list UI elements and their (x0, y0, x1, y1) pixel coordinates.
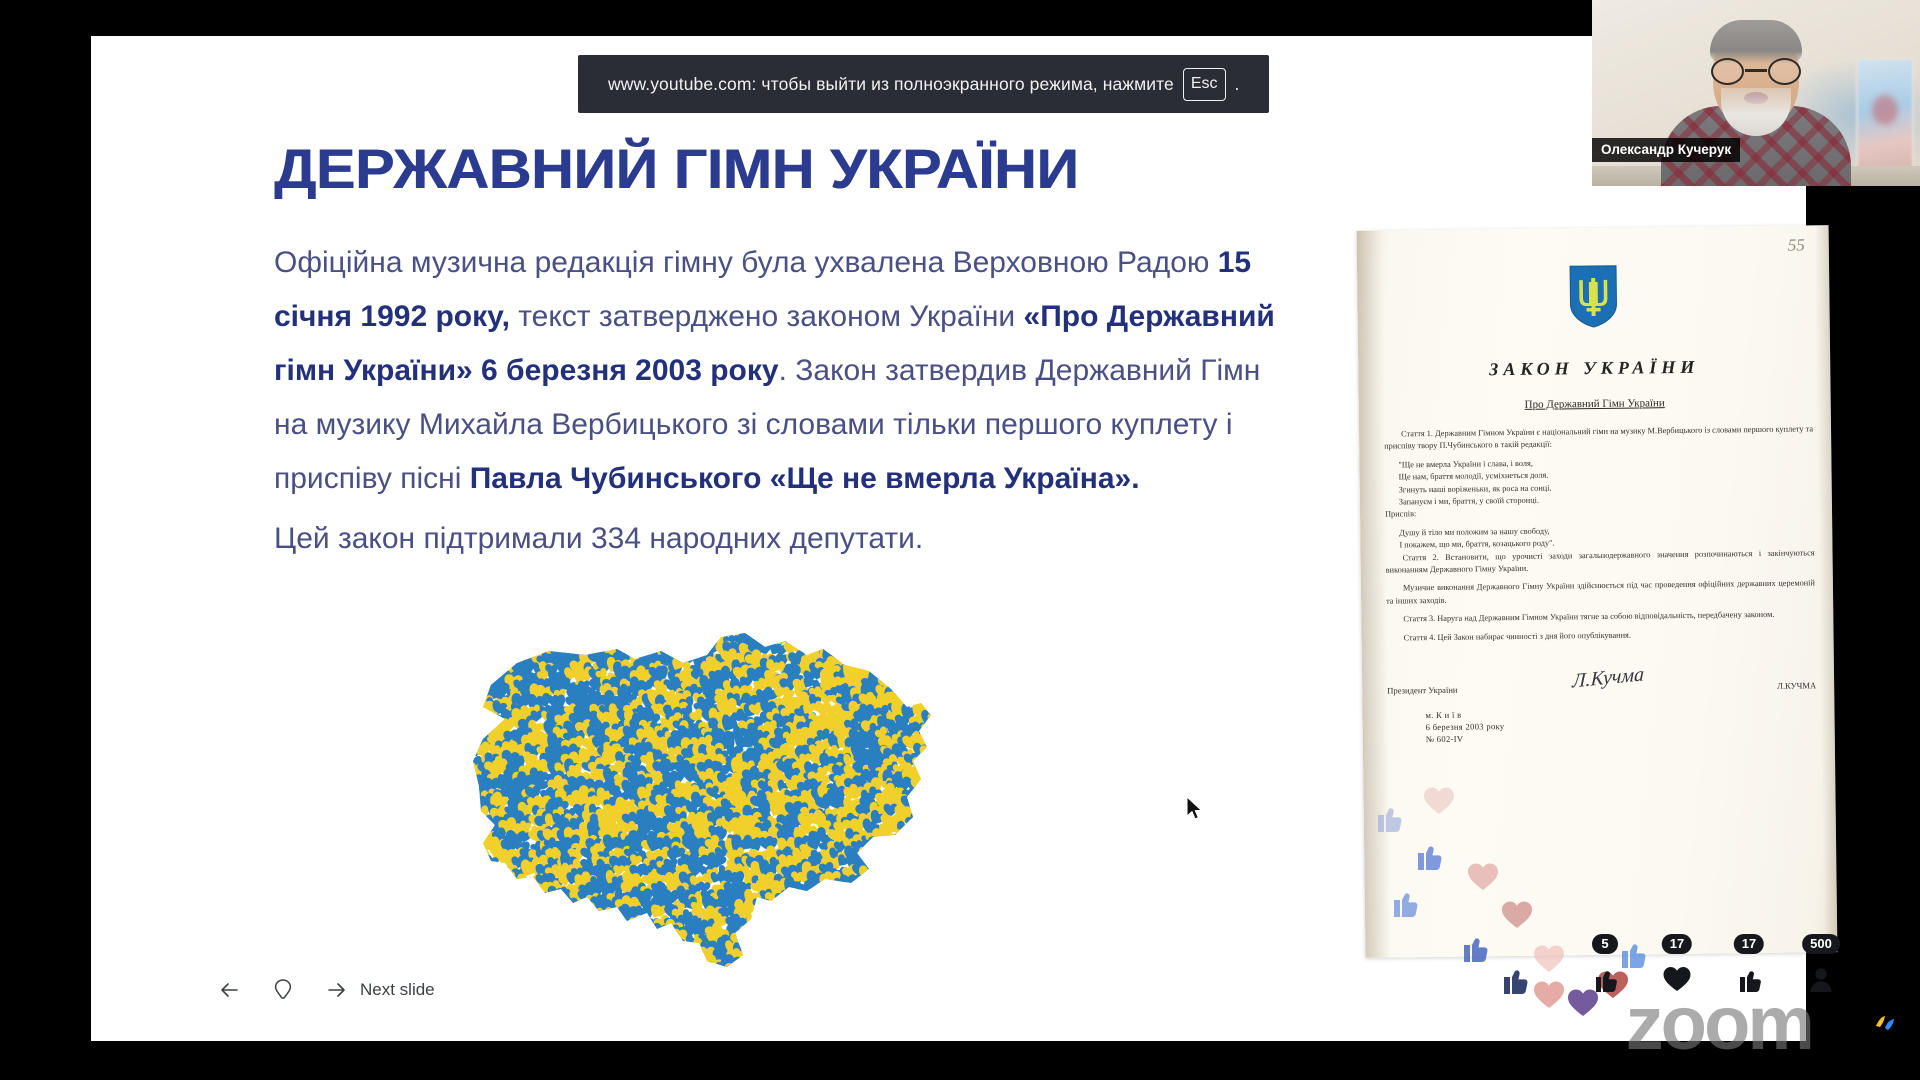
next-slide-label: Next slide (360, 980, 435, 1000)
arrow-right-icon (326, 979, 348, 1001)
page-title: ДЕРЖАВНИЙ ГІМН УКРАЇНИ (274, 136, 1078, 201)
laser-pointer-icon (272, 978, 294, 1002)
slide-final-line: Цей закон підтримали 334 народних депута… (274, 512, 1284, 566)
previous-slide-button[interactable] (204, 968, 254, 1012)
text-segment-5: Павла Чубинського «Ще не вмерла Україна»… (470, 462, 1140, 495)
document-article-1: Стаття 1. Державним Гімном України є нац… (1384, 423, 1813, 453)
participant-glasses (1711, 58, 1801, 86)
badge-count: 500 (1802, 934, 1840, 954)
document-page-number: 55 (1788, 235, 1805, 255)
document-article-2b: Музичне виконання Державного Гімну Украї… (1386, 578, 1815, 608)
participant-video-tile[interactable]: Олександр Кучерук (1592, 0, 1920, 186)
participant-count-badge[interactable]: 500 (1800, 934, 1842, 994)
notification-message: www.youtube.com: чтобы выйти из полноэкр… (608, 74, 1174, 95)
document-article-2a: Стаття 2. Встановити, що урочисті заходи… (1386, 547, 1815, 577)
thumbs-up-icon (1734, 964, 1764, 994)
zoom-watermark: zoom (1626, 986, 1812, 1062)
law-document-photo: 55 ЗАКОН УКРАЇНИ Про Державний Гімн Укра… (1357, 225, 1838, 958)
reaction-badge-thumbsup[interactable]: 17 (1728, 934, 1770, 994)
document-article-3: Стаття 3. Наруга над Державним Гімном Ук… (1386, 609, 1815, 627)
next-slide-button[interactable]: Next slide (312, 968, 453, 1012)
reaction-badge-bar: 5 17 17 500 (1584, 934, 1842, 994)
fullscreen-exit-notification: www.youtube.com: чтобы выйти из полноэкр… (578, 55, 1269, 113)
text-segment-2: текст затверджено законом України (510, 300, 1024, 333)
badge-count: 17 (1734, 934, 1764, 954)
arrow-left-icon (218, 979, 240, 1001)
esc-key-badge: Esc (1183, 68, 1226, 101)
slide-body-text: Офіційна музична редакція гімну була ухв… (274, 236, 1284, 566)
participant-name-label: Олександр Кучерук (1592, 138, 1740, 162)
document-signature-block: Президент України Л.Кучма Л.КУЧМА м. К и… (1387, 680, 1817, 745)
reaction-badge-clap[interactable]: 5 (1584, 934, 1626, 994)
document-law-title: ЗАКОН УКРАЇНИ (1358, 355, 1830, 382)
document-signature-mark: Л.Кучма (1572, 663, 1645, 693)
text-segment-0: Офіційна музична редакція гімну була ухв… (274, 246, 1218, 279)
person-icon (1806, 964, 1836, 994)
badge-count: 17 (1662, 934, 1692, 954)
thumbs-up-icon (1590, 964, 1620, 994)
shared-slide-surface[interactable]: ДЕРЖАВНИЙ ГІМН УКРАЇНИ Офіційна музична … (91, 36, 1806, 1041)
notification-trailing-period: . (1235, 74, 1240, 95)
document-body-text: Стаття 1. Державним Гімном України є нац… (1384, 423, 1816, 650)
reaction-badge-heart[interactable]: 17 (1656, 934, 1698, 994)
heart-icon (1662, 964, 1692, 994)
slide-paragraph: Офіційна музична редакція гімну була ухв… (274, 236, 1284, 506)
zoom-corner-icon (1872, 1010, 1898, 1036)
slide-navigation-toolbar[interactable]: Next slide (204, 963, 453, 1017)
document-signer-name: Л.КУЧМА (1777, 680, 1816, 690)
document-article-4: Стаття 4. Цей Закон набирає чинності з д… (1386, 627, 1815, 645)
ukraine-heart-map-image (421, 611, 951, 1001)
background-wall-picture (1856, 58, 1914, 170)
document-signer-title: Президент України (1387, 685, 1457, 696)
badge-count: 5 (1592, 934, 1618, 954)
laser-pointer-button[interactable] (258, 968, 308, 1012)
document-subtitle: Про Державний Гімн України (1359, 395, 1831, 413)
ukraine-tryzub-emblem-icon (1568, 264, 1619, 329)
zoom-screenshare-stage: ДЕРЖАВНИЙ ГІМН УКРАЇНИ Офіційна музична … (0, 0, 1920, 1080)
